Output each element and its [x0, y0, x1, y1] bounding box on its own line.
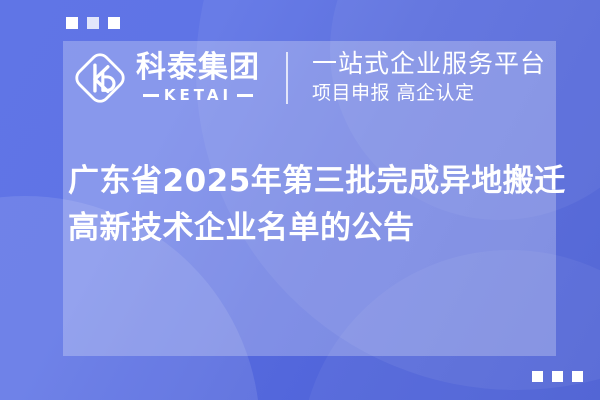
tagline-secondary: 项目申报 高企认定 — [312, 81, 546, 107]
dash-left-icon — [143, 94, 159, 97]
square-dot-icon — [66, 17, 78, 29]
square-dot-icon — [552, 371, 563, 382]
announcement-title: 广东省2025年第三批完成异地搬迁高新技术企业名单的公告 — [68, 158, 568, 252]
tagline-primary: 一站式企业服务平台 — [312, 49, 546, 79]
brand-wordmark: 科泰集团 KETAI — [136, 52, 260, 105]
banner-header: 科泰集团 KETAI 一站式企业服务平台 项目申报 高企认定 — [72, 46, 546, 110]
decorative-squares-top-left — [66, 17, 120, 29]
vertical-divider — [286, 52, 288, 104]
brand-name-en: KETAI — [164, 86, 232, 104]
square-dot-icon — [108, 17, 120, 29]
brand-name-cn: 科泰集团 — [136, 52, 260, 84]
announcement-banner: 科泰集团 KETAI 一站式企业服务平台 项目申报 高企认定 广东省2025年第… — [0, 0, 600, 400]
dash-right-icon — [237, 94, 253, 97]
square-dot-icon — [572, 371, 583, 382]
platform-tagline: 一站式企业服务平台 项目申报 高企认定 — [312, 49, 546, 106]
ketai-diamond-kp-monogram-icon — [72, 50, 128, 106]
decorative-squares-bottom-right — [532, 371, 583, 382]
square-dot-icon — [87, 17, 99, 29]
square-dot-icon — [532, 371, 543, 382]
brand-logo[interactable]: 科泰集团 KETAI — [72, 50, 260, 106]
brand-name-en-row: KETAI — [136, 86, 260, 104]
